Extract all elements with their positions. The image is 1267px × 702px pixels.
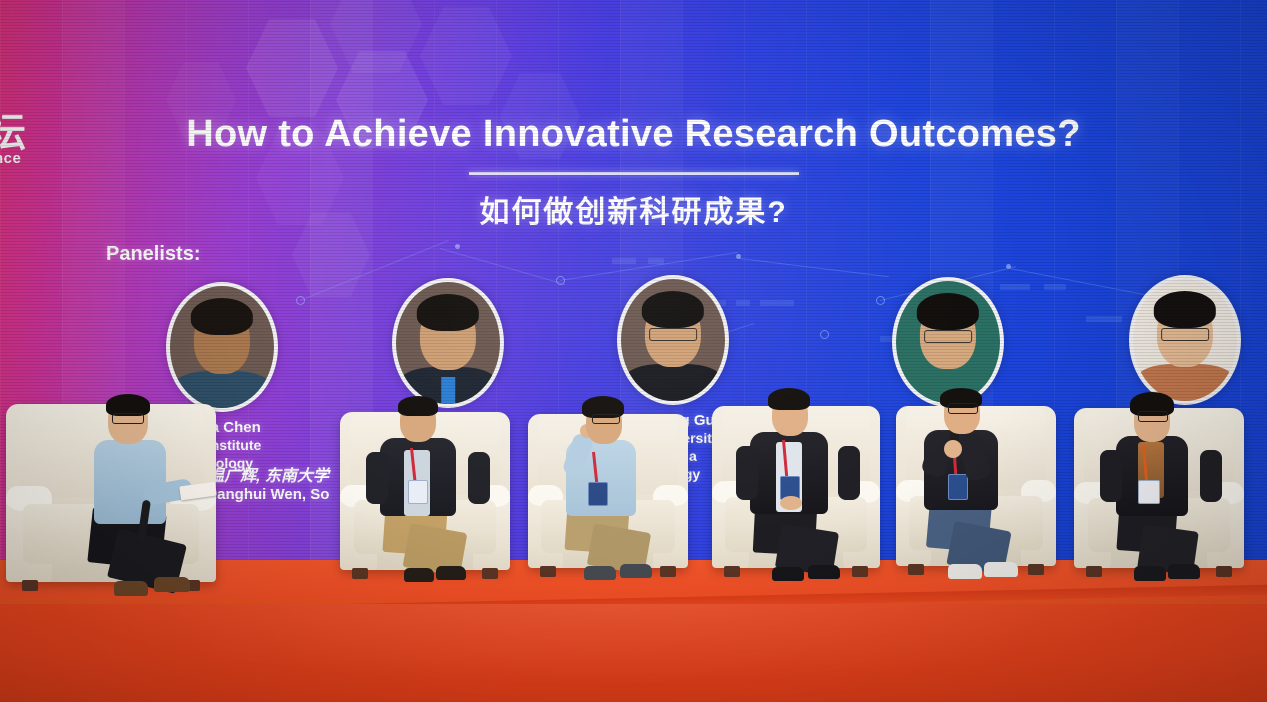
shoe [154, 577, 190, 592]
person-panelist-5-speaking [910, 392, 1028, 572]
seat-panelist-5-speaking [896, 396, 1056, 566]
glasses-icon [112, 413, 144, 424]
sneaker [984, 562, 1018, 577]
badge [588, 482, 608, 506]
sneaker [1168, 564, 1200, 579]
shoe [114, 581, 148, 596]
chair-foot [1216, 566, 1232, 577]
shoe [772, 567, 804, 581]
conference-panel-photo: 坛 nce How to Achieve Innovative Research… [0, 0, 1267, 702]
seat-panelist-6 [1074, 398, 1244, 568]
chair-foot [1086, 566, 1102, 577]
hand [944, 440, 962, 458]
chair-foot [352, 568, 368, 579]
sneaker [948, 564, 982, 579]
arm [1200, 450, 1222, 502]
chair-foot [1028, 564, 1044, 575]
seat-panelist-3 [528, 404, 688, 568]
arm [468, 452, 490, 504]
person-panelist-2 [368, 398, 486, 576]
arm [736, 446, 758, 500]
shoe [584, 566, 616, 580]
seat-moderator [6, 392, 216, 582]
person-moderator [84, 390, 214, 590]
sneaker [1134, 566, 1166, 581]
badge [1138, 480, 1160, 504]
shoe [808, 565, 840, 579]
torso-shirt [94, 440, 166, 524]
glasses-icon [592, 414, 620, 424]
arm [1100, 450, 1122, 502]
person-panelist-4 [738, 392, 856, 574]
shoe [620, 564, 652, 578]
glasses-icon [1138, 411, 1168, 422]
stage-floor-lower [0, 604, 1267, 702]
hand [780, 496, 802, 510]
shoe [404, 568, 434, 582]
chair-foot [22, 580, 38, 591]
hair [768, 388, 810, 410]
glasses-icon [948, 403, 978, 414]
hair [398, 396, 438, 416]
seat-panelist-4 [712, 396, 880, 568]
person-panelist-6 [1102, 398, 1218, 574]
seat-panelist-2 [340, 402, 510, 570]
badge [408, 480, 428, 504]
badge [948, 474, 968, 500]
arm [838, 446, 860, 500]
person-panelist-3 [552, 402, 668, 574]
shoe [436, 566, 466, 580]
arm [366, 452, 388, 504]
